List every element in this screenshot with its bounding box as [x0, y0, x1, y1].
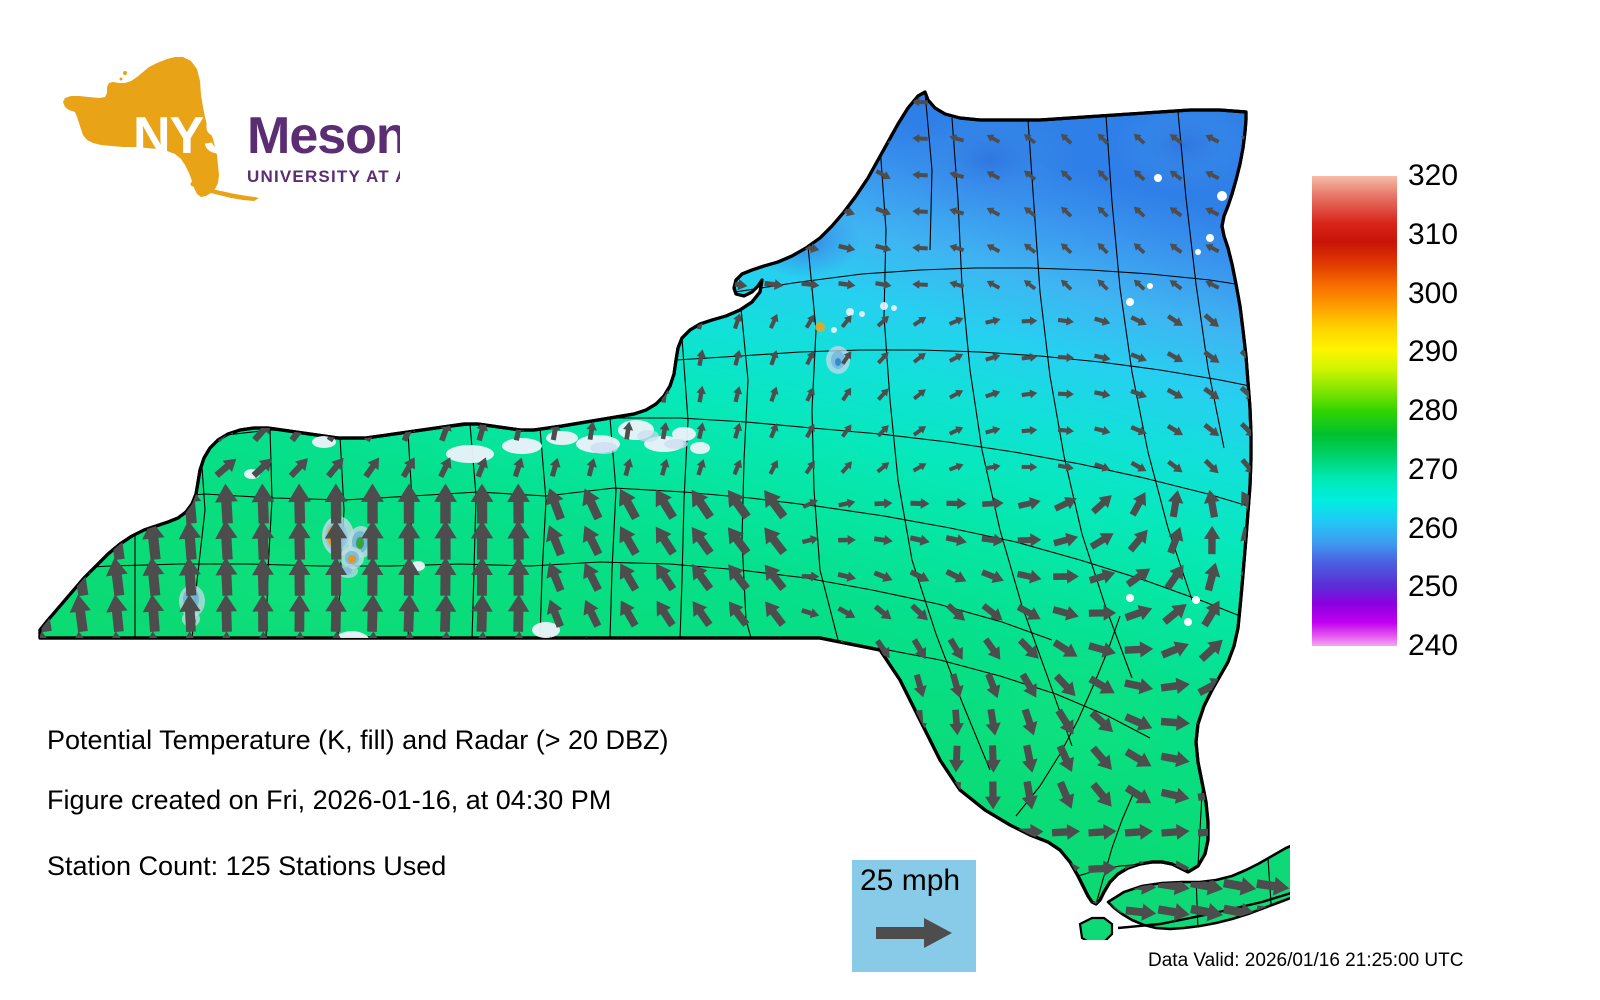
- figure-created-text: Figure created on Fri, 2026-01-16, at 04…: [47, 787, 611, 814]
- wind-arrow: [176, 273, 203, 296]
- wind-arrow: [1233, 782, 1264, 808]
- wind-arrow: [143, 668, 164, 704]
- wind-arrow: [393, 820, 424, 843]
- wind-arrow: [102, 306, 132, 335]
- wind-arrow: [979, 897, 1007, 913]
- wind-arrow: [287, 343, 313, 371]
- wind-arrow: [323, 307, 348, 334]
- wind-arrow: [578, 199, 605, 224]
- wind-arrow: [1197, 749, 1228, 770]
- wind-arrow: [106, 668, 127, 704]
- wind-arrow: [539, 894, 570, 917]
- wind-arrow: [649, 858, 680, 879]
- wind-arrow: [214, 125, 239, 153]
- wind-arrow: [912, 746, 928, 772]
- wind-arrow: [658, 312, 671, 331]
- wind-arrow: [175, 821, 206, 842]
- wind-arrow: [29, 896, 59, 915]
- wind-arrow: [287, 380, 313, 408]
- wind-arrow: [29, 452, 59, 482]
- wind-arrow: [321, 271, 350, 299]
- wind-arrow: [473, 309, 491, 333]
- wind-arrow: [474, 382, 490, 405]
- wind-arrow: [503, 857, 534, 880]
- wind-arrow: [764, 241, 785, 256]
- wind-arrow: [213, 161, 239, 189]
- wind-arrow: [762, 745, 786, 773]
- wind-arrow: [395, 234, 424, 263]
- wind-arrow: [548, 347, 562, 368]
- wind-arrow: [34, 279, 54, 291]
- wind-arrow: [726, 165, 749, 184]
- wind-arrow: [68, 91, 92, 112]
- wind-arrow: [284, 821, 315, 844]
- wind-arrow: [177, 199, 204, 224]
- wind-arrow: [686, 858, 716, 879]
- wind-arrow: [139, 416, 169, 445]
- wind-arrow: [948, 96, 965, 108]
- wind-arrow: [1015, 897, 1044, 914]
- colorbar-tick-4: 280: [1408, 396, 1458, 426]
- wind-arrow: [800, 783, 820, 809]
- wind-arrow: [436, 309, 456, 334]
- wind-arrow: [395, 197, 423, 227]
- wind-arrow: [285, 234, 313, 262]
- wind-arrow: [431, 234, 460, 262]
- wind-arrow: [1240, 242, 1257, 255]
- wind-arrow: [102, 416, 132, 446]
- wind-arrow: [542, 161, 569, 188]
- wind-arrow: [576, 894, 607, 916]
- wind-arrow: [212, 379, 240, 408]
- wind-arrow: [1233, 670, 1265, 702]
- wind-arrow: [324, 124, 349, 154]
- wind-arrow: [468, 234, 497, 262]
- wind-arrow: [541, 273, 569, 297]
- wind-arrow: [432, 160, 459, 190]
- wind-arrow: [34, 242, 55, 255]
- wind-arrow: [286, 307, 313, 335]
- wind-arrow: [324, 667, 347, 704]
- wind-arrow: [211, 821, 242, 843]
- wind-arrow: [505, 198, 533, 226]
- wind-arrow: [652, 127, 677, 150]
- wind-arrow: [548, 384, 561, 405]
- wind-arrow: [504, 235, 533, 261]
- wind-arrow: [876, 783, 890, 808]
- wind-arrow: [1240, 205, 1257, 218]
- wind-arrow: [399, 381, 419, 407]
- wind-arrow: [66, 895, 96, 914]
- colorbar-tick-8: 240: [1408, 631, 1458, 661]
- wind-arrow: [876, 747, 891, 772]
- wind-arrow: [689, 745, 712, 773]
- wind-arrow: [837, 93, 857, 110]
- wind-arrow: [622, 348, 634, 367]
- wind-arrow: [578, 274, 605, 296]
- colorbar-tick-3: 290: [1408, 337, 1458, 367]
- wind-arrow: [396, 124, 421, 154]
- wind-legend-arrow-icon: [876, 916, 956, 955]
- wind-arrow: [177, 89, 202, 116]
- wind-arrow: [763, 203, 784, 220]
- wind-arrow: [906, 824, 934, 841]
- wind-arrow: [652, 164, 677, 187]
- wind-arrow: [615, 237, 641, 258]
- wind-arrow: [875, 710, 892, 735]
- wind-arrow: [249, 197, 276, 225]
- wind-arrow: [466, 821, 497, 844]
- wind-arrow: [359, 160, 385, 190]
- wind-arrow: [104, 201, 129, 222]
- wind-arrow: [102, 379, 131, 409]
- wind-arrow: [249, 271, 278, 297]
- wind-arrow: [361, 381, 383, 408]
- wind-arrow: [800, 675, 822, 697]
- wind-arrow: [760, 671, 787, 701]
- wind-arrow: [686, 822, 716, 843]
- wind-arrow: [507, 667, 530, 704]
- wind-arrow: [615, 200, 641, 223]
- wind-arrow: [726, 745, 750, 773]
- wind-arrow: [874, 673, 894, 698]
- wind-arrow: [688, 671, 715, 702]
- wind-arrow: [613, 821, 644, 843]
- wind-arrow: [686, 895, 716, 916]
- wind-arrow: [578, 236, 605, 259]
- wind-arrow: [396, 160, 422, 190]
- wind-arrow: [796, 896, 825, 915]
- wind-arrow: [615, 163, 641, 187]
- wind-arrow: [689, 708, 714, 737]
- wind-arrow: [1167, 94, 1184, 109]
- wind-arrow: [759, 822, 789, 841]
- wind-arrow: [615, 671, 640, 701]
- wind-arrow: [1095, 94, 1111, 110]
- wind-arrow: [320, 821, 351, 844]
- colorbar-tick-6: 260: [1408, 514, 1458, 544]
- wind-arrow: [722, 822, 752, 842]
- wind-arrow: [250, 124, 275, 153]
- wind-arrow: [503, 894, 534, 917]
- wind-arrow: [138, 822, 168, 843]
- wind-arrow: [212, 307, 241, 335]
- wind-arrow: [1021, 94, 1037, 109]
- colorbar-tick-5: 270: [1408, 455, 1458, 485]
- wind-arrow: [213, 235, 241, 261]
- wind-arrow: [140, 482, 167, 524]
- wind-arrow: [214, 88, 239, 116]
- wind-arrow: [759, 895, 789, 914]
- wind-arrow: [287, 124, 312, 153]
- wind-legend-label: 25 mph: [860, 864, 960, 898]
- wind-arrow: [800, 204, 820, 220]
- colorbar: 320 310 300 290 280 270 260 250 240: [1312, 176, 1397, 646]
- wind-arrow: [649, 821, 680, 842]
- wind-arrow: [469, 160, 496, 189]
- wind-arrow: [399, 345, 419, 371]
- wind-arrow: [139, 379, 168, 409]
- wind-arrow: [654, 782, 675, 809]
- wind-arrow: [212, 343, 240, 372]
- wind-arrow: [66, 822, 96, 841]
- wind-arrow: [361, 308, 384, 335]
- wind-arrow: [652, 238, 677, 257]
- wind-arrow: [250, 380, 277, 409]
- wind-arrow: [251, 88, 276, 117]
- wind-arrow: [252, 668, 274, 705]
- wind-arrow: [249, 307, 277, 335]
- wind-arrow: [247, 821, 278, 843]
- wind-arrow: [213, 198, 240, 225]
- wind-arrow: [102, 343, 132, 373]
- wind-arrow: [503, 821, 534, 844]
- wind-arrow: [69, 202, 93, 220]
- wind-arrow: [322, 234, 351, 263]
- wind-arrow: [1052, 896, 1081, 913]
- station-count-text: Station Count: 125 Stations Used: [47, 853, 446, 880]
- wind-arrow: [722, 895, 752, 915]
- wind-arrow: [622, 385, 634, 404]
- wind-arrow: [141, 126, 167, 151]
- wind-arrow: [394, 271, 423, 299]
- wind-arrow: [250, 161, 276, 190]
- wind-arrow: [470, 667, 493, 704]
- wind-arrow: [286, 197, 313, 226]
- wind-arrow: [837, 674, 858, 698]
- wind-arrow: [1289, 902, 1290, 923]
- wind-arrow: [542, 88, 568, 116]
- wind-arrow: [942, 824, 970, 840]
- wind-arrow: [176, 236, 203, 260]
- wind-arrow: [105, 276, 129, 293]
- wind-arrow: [1234, 633, 1262, 666]
- wind-arrow: [1131, 94, 1147, 110]
- wind-arrow: [469, 124, 495, 153]
- wind-arrow: [725, 708, 750, 737]
- wind-arrow: [506, 88, 532, 117]
- data-valid-text: Data Valid: 2026/01/16 21:25:00 UTC: [1148, 950, 1463, 972]
- wind-arrow: [510, 310, 526, 332]
- wind-arrow: [29, 823, 59, 842]
- wind-arrow: [212, 272, 240, 297]
- wind-arrow: [763, 782, 785, 810]
- wind-speed-legend: 25 mph: [852, 860, 976, 972]
- wind-arrow: [800, 711, 821, 735]
- wind-arrow: [33, 167, 56, 184]
- wind-arrow: [1240, 96, 1257, 109]
- wind-arrow: [66, 415, 96, 445]
- wind-arrow: [176, 379, 205, 408]
- wind-arrow: [433, 87, 458, 117]
- wind-arrow: [359, 197, 387, 227]
- wind-arrow: [689, 165, 713, 186]
- wind-arrow: [65, 452, 95, 481]
- wind-arrow: [287, 87, 311, 116]
- wind-arrow: [539, 857, 570, 880]
- colorbar-gradient: [1312, 176, 1397, 646]
- wind-arrow: [979, 860, 1007, 876]
- wind-arrow: [585, 348, 598, 368]
- wind-arrow: [360, 124, 385, 154]
- wind-arrow: [1234, 823, 1263, 841]
- wind-arrow: [430, 820, 461, 843]
- figure-title: Potential Temperature (K, fill) and Rada…: [47, 727, 669, 754]
- wind-arrow: [361, 667, 384, 704]
- wind-arrow: [505, 161, 532, 189]
- wind-arrow: [615, 126, 641, 151]
- wind-arrow: [874, 94, 893, 111]
- wind-arrow: [621, 311, 634, 330]
- wind-arrow: [539, 821, 570, 844]
- wind-arrow: [216, 668, 238, 704]
- wind-arrow: [469, 87, 494, 116]
- wind-arrow: [504, 272, 533, 297]
- wind-arrow: [544, 671, 566, 701]
- wind-arrow: [1240, 278, 1257, 291]
- wind-arrow: [69, 668, 91, 705]
- colorbar-tick-7: 250: [1408, 572, 1458, 602]
- wind-arrow: [436, 382, 454, 406]
- wind-arrow: [285, 271, 314, 298]
- wind-arrow: [104, 127, 129, 150]
- wind-arrow: [29, 415, 58, 446]
- wind-arrow: [759, 859, 789, 878]
- wind-arrow: [32, 667, 55, 704]
- wind-arrow: [690, 277, 713, 293]
- staten-island: [1080, 918, 1112, 940]
- wind-arrow: [29, 519, 58, 562]
- wind-arrow: [29, 306, 59, 336]
- wind-arrow: [541, 198, 569, 224]
- wind-arrow: [433, 124, 458, 154]
- wind-arrow: [33, 204, 55, 219]
- wind-arrow: [613, 894, 644, 916]
- wind-arrow: [249, 343, 276, 372]
- wind-arrow: [33, 93, 56, 112]
- wind-arrow: [66, 482, 95, 525]
- wind-arrow: [763, 166, 785, 184]
- wind-arrow: [801, 747, 821, 772]
- wind-arrow: [361, 344, 383, 371]
- wind-arrow: [580, 671, 604, 701]
- wind-arrow: [576, 821, 607, 843]
- wind-arrow: [29, 482, 59, 526]
- wind-arrow: [177, 125, 203, 152]
- wind-arrow: [578, 162, 605, 188]
- wind-arrow: [30, 379, 59, 410]
- wind-arrow: [105, 238, 130, 257]
- wind-arrow: [651, 671, 677, 702]
- wind-arrow: [800, 93, 821, 111]
- wind-arrow: [33, 129, 56, 147]
- wind-arrow: [138, 453, 168, 481]
- wind-arrow: [468, 197, 496, 226]
- wind-arrow: [434, 667, 458, 704]
- wind-arrow: [726, 782, 748, 810]
- wind-arrow: [286, 160, 312, 189]
- wind-arrow: [912, 782, 929, 809]
- wind-arrow: [578, 125, 604, 151]
- wind-arrow: [652, 276, 676, 294]
- wind-arrow: [838, 710, 857, 735]
- wind-arrow: [358, 234, 387, 263]
- wind-arrow: [548, 310, 563, 331]
- wind-arrow: [358, 270, 387, 298]
- colorbar-tick-0: 320: [1408, 161, 1458, 191]
- wind-arrow: [177, 162, 203, 188]
- wind-arrow: [66, 519, 94, 561]
- wind-arrow: [398, 308, 420, 334]
- wind-arrow: [69, 277, 91, 291]
- wind-arrow: [324, 87, 348, 117]
- wind-arrow: [838, 783, 855, 809]
- wind-arrow: [102, 453, 132, 482]
- wind-arrow: [30, 556, 58, 598]
- colorbar-tick-1: 310: [1408, 220, 1458, 250]
- wind-arrow: [724, 671, 751, 701]
- wind-arrow: [800, 640, 822, 659]
- wind-arrow: [1058, 94, 1074, 109]
- wind-arrow: [466, 857, 497, 880]
- wind-arrow: [652, 90, 677, 114]
- wind-arrow: [689, 239, 713, 257]
- wind-arrow: [66, 379, 95, 409]
- wind-arrow: [467, 271, 496, 297]
- wind-arrow: [542, 125, 568, 153]
- wind-arrow: [397, 87, 422, 117]
- wind-arrow: [726, 203, 749, 221]
- wind-arrow: [323, 160, 349, 190]
- wind-arrow: [141, 163, 167, 188]
- wind-arrow: [658, 348, 670, 366]
- wind-arrow: [432, 197, 460, 226]
- wind-arrow: [139, 343, 168, 373]
- wind-arrow: [837, 167, 857, 183]
- wind-arrow: [105, 90, 130, 114]
- wind-arrow: [397, 667, 421, 704]
- wind-arrow: [357, 821, 388, 844]
- wind-arrow: [393, 893, 424, 916]
- wind-arrow: [585, 384, 598, 404]
- wind-arrow: [511, 383, 526, 405]
- wind-arrow: [69, 240, 92, 256]
- wind-arrow: [65, 306, 95, 336]
- wind-arrow: [176, 343, 205, 372]
- wind-arrow: [140, 237, 166, 259]
- wind-arrow: [796, 859, 825, 878]
- wind-arrow: [30, 342, 59, 373]
- wind-arrow: [175, 416, 204, 445]
- wind-arrow: [511, 347, 526, 369]
- wind-arrow: [689, 91, 713, 113]
- wind-arrow: [761, 708, 786, 737]
- wind-arrow: [726, 92, 749, 113]
- wind-arrow: [68, 128, 92, 149]
- wind-arrow: [141, 274, 167, 294]
- wind-arrow: [180, 668, 201, 704]
- wind-arrow: [104, 164, 129, 186]
- wind-arrow: [505, 124, 531, 153]
- wind-arrow: [832, 823, 861, 841]
- wind-arrow: [1240, 169, 1257, 182]
- wind-arrow: [288, 668, 311, 705]
- weather-map-figure: NYS Mesonet UNIVERSITY AT ALBANY: [0, 0, 1600, 1000]
- wind-arrow: [613, 858, 644, 880]
- wind-arrow: [103, 482, 131, 525]
- wind-arrow: [322, 197, 349, 226]
- wind-arrow: [430, 893, 461, 916]
